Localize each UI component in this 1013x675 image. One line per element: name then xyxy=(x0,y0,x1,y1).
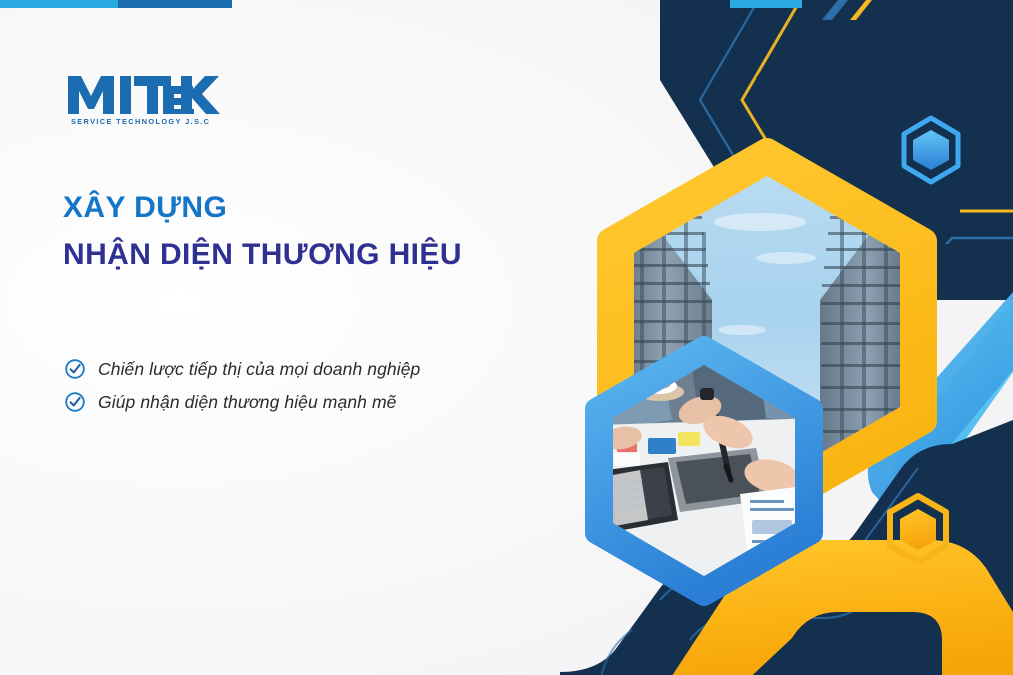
brand-identity-banner: SERVICE TECHNOLOGY J.S.C XÂY DỰNG NHẬN D… xyxy=(0,0,1013,675)
mitek-logo-wordmark xyxy=(68,72,220,116)
topbar-segment-blue-left xyxy=(118,0,232,8)
headline-line-1: XÂY DỰNG xyxy=(63,190,462,227)
list-item: Chiến lược tiếp thị của mọi doanh nghiệp xyxy=(64,358,420,380)
list-item-label: Chiến lược tiếp thị của mọi doanh nghiệp xyxy=(98,359,420,380)
list-item-label: Giúp nhận diện thương hiệu mạnh mẽ xyxy=(98,392,396,413)
benefits-list: Chiến lược tiếp thị của mọi doanh nghiệp… xyxy=(64,358,420,424)
topbar-segment-cyan-right xyxy=(730,0,802,8)
mitek-logo[interactable]: SERVICE TECHNOLOGY J.S.C xyxy=(68,72,298,126)
mitek-logo-tagline: SERVICE TECHNOLOGY J.S.C xyxy=(71,117,298,126)
topbar-segment-cyan-left xyxy=(0,0,118,8)
check-circle-icon xyxy=(64,391,86,413)
top-accent-bar xyxy=(0,0,1013,8)
page-title: XÂY DỰNG NHẬN DIỆN THƯƠNG HIỆU xyxy=(63,190,462,273)
list-item: Giúp nhận diện thương hiệu mạnh mẽ xyxy=(64,391,420,413)
headline-line-2: NHẬN DIỆN THƯƠNG HIỆU xyxy=(63,237,462,274)
content-column: SERVICE TECHNOLOGY J.S.C XÂY DỰNG NHẬN D… xyxy=(0,0,600,675)
check-circle-icon xyxy=(64,358,86,380)
